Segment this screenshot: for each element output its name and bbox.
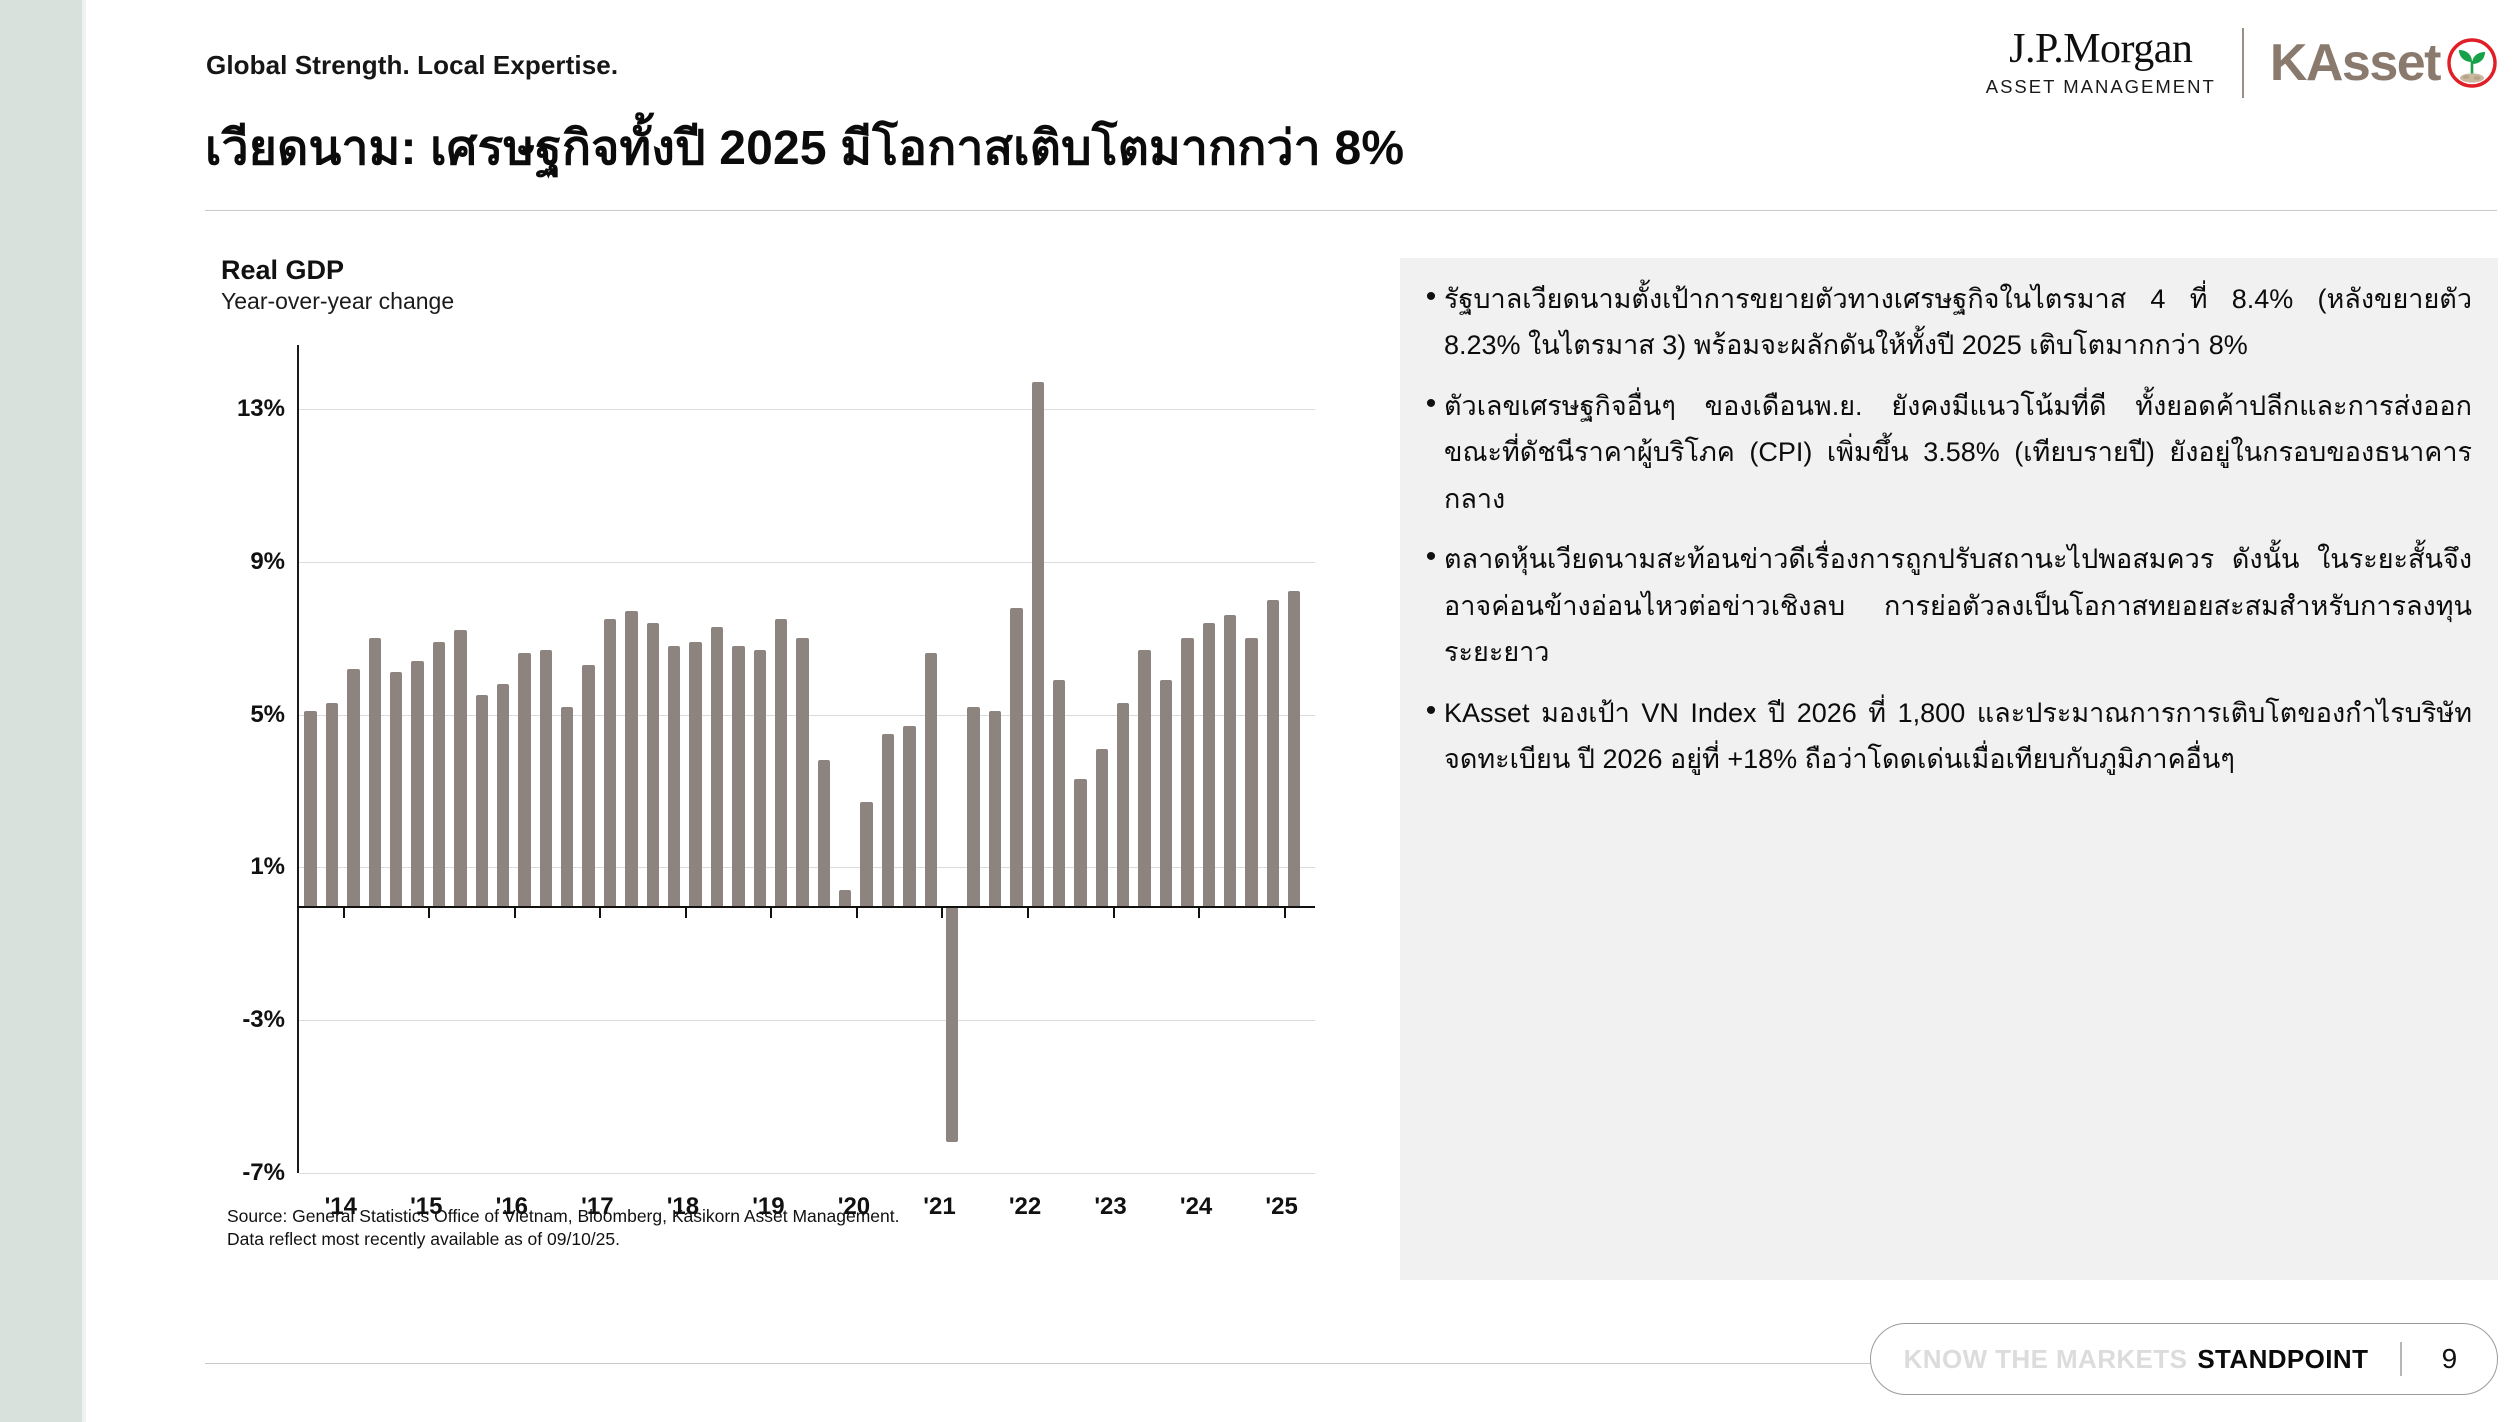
header-divider	[205, 210, 2497, 211]
bar	[711, 627, 723, 906]
footer-brand-name: STANDPOINT	[2197, 1344, 2368, 1375]
chart-source-note: Source: General Statistics Office of Vie…	[227, 1205, 899, 1252]
bar	[1267, 600, 1279, 906]
commentary-bullet: •ตลาดหุ้นเวียดนามสะท้อนข่าวดีเรื่องการถู…	[1418, 536, 2472, 675]
x-tick	[685, 906, 687, 918]
x-tick	[514, 906, 516, 918]
bar	[647, 623, 659, 906]
bar	[1245, 638, 1257, 905]
y-tick-label: -7%	[242, 1159, 285, 1187]
bar	[540, 650, 552, 906]
x-tick-label: '23	[1094, 1193, 1126, 1221]
slide-root: Global Strength. Local Expertise. J.P.Mo…	[0, 0, 2520, 1422]
chart-axes	[297, 363, 1315, 1173]
bar	[326, 703, 338, 906]
bar	[967, 707, 979, 906]
bar	[1181, 638, 1193, 905]
bar	[1288, 591, 1300, 905]
chart-plot-area: 13%9%5%1%-3%-7% '14'15'16'17'18'19'20'21…	[205, 363, 1315, 1173]
tagline: Global Strength. Local Expertise.	[206, 50, 618, 81]
bar	[411, 661, 423, 906]
bullet-text: รัฐบาลเวียดนามตั้งเป้าการขยายตัวทางเศรษฐ…	[1444, 276, 2472, 369]
source-line-1: Source: General Statistics Office of Vie…	[227, 1205, 899, 1228]
bar	[1096, 749, 1108, 906]
footer-brand-prefix: KNOW THE MARKETS	[1904, 1344, 2188, 1375]
bar	[347, 669, 359, 906]
bar	[561, 707, 573, 906]
left-accent-rail-edge	[82, 0, 86, 1422]
x-tick	[770, 906, 772, 918]
jpmorgan-wordmark: J.P.Morgan	[2009, 28, 2192, 70]
bullet-text: ตลาดหุ้นเวียดนามสะท้อนข่าวดีเรื่องการถูก…	[1444, 536, 2472, 675]
x-tick-label: '21	[923, 1193, 955, 1221]
bar	[476, 695, 488, 905]
y-tick-label: -3%	[242, 1006, 285, 1034]
bar	[369, 638, 381, 905]
bullet-marker-icon: •	[1418, 536, 1444, 573]
bullet-marker-icon: •	[1418, 383, 1444, 420]
bar	[839, 890, 851, 905]
y-axis-line	[297, 345, 299, 1173]
bar	[454, 630, 466, 905]
chart-title: Real GDP	[221, 255, 1315, 286]
x-tick-label: '24	[1180, 1193, 1212, 1221]
bullet-text: ตัวเลขเศรษฐกิจอื่นๆ ของเดือนพ.ย. ยังคงมี…	[1444, 383, 2472, 522]
chart-subtitle: Year-over-year change	[221, 288, 1315, 315]
bar	[497, 684, 509, 906]
source-line-2: Data reflect most recently available as …	[227, 1228, 899, 1251]
kasset-seedling-icon	[2446, 37, 2498, 89]
x-tick-label: '22	[1009, 1193, 1041, 1221]
bar	[989, 711, 1001, 906]
bar	[818, 760, 830, 905]
x-tick	[1027, 906, 1029, 918]
footer-brand-pill: KNOW THE MARKETS STANDPOINT 9	[1870, 1323, 2498, 1395]
bar	[732, 646, 744, 906]
bar	[604, 619, 616, 906]
page-number: 9	[2434, 1343, 2464, 1375]
bar	[625, 611, 637, 905]
x-tick	[856, 906, 858, 918]
bullet-marker-icon: •	[1418, 690, 1444, 727]
bar	[1160, 680, 1172, 905]
bar	[796, 638, 808, 905]
bar	[925, 653, 937, 905]
jpmorgan-logo: J.P.Morgan ASSET MANAGEMENT	[1986, 28, 2242, 98]
jpmorgan-sublabel: ASSET MANAGEMENT	[1986, 76, 2216, 98]
logo-divider	[2242, 28, 2244, 98]
bar	[860, 802, 872, 905]
bar	[1010, 608, 1022, 906]
x-tick	[428, 906, 430, 918]
y-tick-label: 1%	[250, 853, 285, 881]
bar	[1053, 680, 1065, 905]
zero-line	[297, 906, 1315, 908]
x-tick	[941, 906, 943, 918]
bar	[775, 619, 787, 906]
commentary-bullet: •ตัวเลขเศรษฐกิจอื่นๆ ของเดือนพ.ย. ยังคงม…	[1418, 383, 2472, 522]
commentary-bullet: •รัฐบาลเวียดนามตั้งเป้าการขยายตัวทางเศรษ…	[1418, 276, 2472, 369]
y-tick-label: 5%	[250, 701, 285, 729]
bar	[304, 711, 316, 906]
bar	[1117, 703, 1129, 906]
chart-panel: Real GDP Year-over-year change 13%9%5%1%…	[205, 255, 1315, 1285]
bar	[882, 734, 894, 906]
bullet-marker-icon: •	[1418, 276, 1444, 313]
y-tick-label: 13%	[237, 395, 285, 423]
bar	[689, 642, 701, 906]
bar	[1074, 779, 1086, 905]
bar	[1224, 615, 1236, 905]
bar	[1138, 650, 1150, 906]
bar	[390, 672, 402, 905]
logo-group: J.P.Morgan ASSET MANAGEMENT KAsset	[1986, 28, 2498, 98]
x-tick	[1198, 906, 1200, 918]
bar	[518, 653, 530, 905]
kasset-logo: KAsset	[2270, 37, 2498, 89]
bar	[946, 906, 958, 1143]
footer-pill-separator	[2400, 1342, 2402, 1376]
bar	[582, 665, 594, 906]
bar	[433, 642, 445, 906]
bar	[903, 726, 915, 906]
bar	[754, 650, 766, 906]
x-tick	[343, 906, 345, 918]
bar-series	[300, 363, 1305, 1173]
kasset-wordmark: KAsset	[2270, 37, 2440, 89]
left-accent-rail	[0, 0, 82, 1422]
bar	[1203, 623, 1215, 906]
bar	[668, 646, 680, 906]
x-tick-label: '25	[1265, 1193, 1297, 1221]
y-tick-label: 9%	[250, 548, 285, 576]
x-tick	[1113, 906, 1115, 918]
x-tick	[1284, 906, 1286, 918]
bar	[1032, 382, 1044, 905]
gridline	[299, 1173, 1315, 1174]
bullet-text: KAsset มองเป้า VN Index ปี 2026 ที่ 1,80…	[1444, 690, 2472, 783]
x-tick	[599, 906, 601, 918]
commentary-bullet: •KAsset มองเป้า VN Index ปี 2026 ที่ 1,8…	[1418, 690, 2472, 783]
page-title: เวียดนาม: เศรษฐกิจทั้งปี 2025 มีโอกาสเติ…	[205, 110, 1404, 186]
footer-divider	[205, 1363, 1895, 1364]
y-axis-labels: 13%9%5%1%-3%-7%	[205, 363, 293, 1173]
commentary-panel: •รัฐบาลเวียดนามตั้งเป้าการขยายตัวทางเศรษ…	[1400, 258, 2498, 1280]
